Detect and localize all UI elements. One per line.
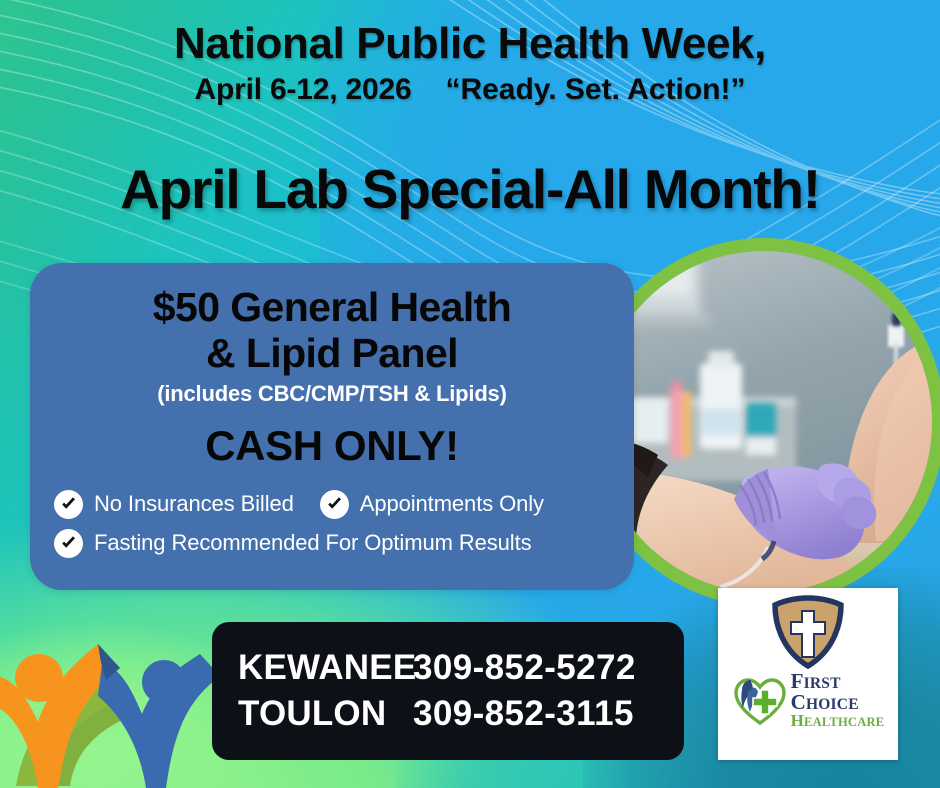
offer-card: $50 General Health & Lipid Panel (includ… (30, 263, 634, 590)
promo-headline: April Lab Special-All Month! (0, 162, 940, 217)
checklist-label: No Insurances Billed (94, 491, 294, 517)
event-tagline: “Ready. Set. Action!” (445, 73, 745, 106)
contact-row: TOULON 309-852-3115 (238, 691, 684, 737)
event-title: National Public Health Week, (0, 22, 940, 66)
check-circle-icon (54, 529, 83, 558)
people-figures-icon (0, 618, 224, 788)
brand-logo-card: FIRST CHOICE HEALTHCARE (718, 588, 898, 760)
photo-circle-frame (583, 238, 940, 606)
offer-title: $50 General Health & Lipid Panel (48, 285, 616, 377)
checklist-label: Appointments Only (360, 491, 544, 517)
brand-line-first: FIRST (791, 671, 885, 692)
contact-city: KEWANEE (238, 645, 413, 691)
check-circle-icon (320, 490, 349, 519)
contact-city: TOULON (238, 691, 413, 737)
checklist-item: Fasting Recommended For Optimum Results (54, 529, 531, 558)
event-dates: April 6-12, 2026 (195, 73, 412, 106)
checklist-row-1: No Insurances Billed Appointments Only (54, 490, 616, 519)
offer-checklist: No Insurances Billed Appointments Only (48, 490, 616, 558)
check-circle-icon (54, 490, 83, 519)
offer-title-line2: & Lipid Panel (48, 331, 616, 377)
event-subtitle: April 6-12, 2026“Ready. Set. Action!” (0, 75, 940, 105)
heart-person-cross-icon (732, 672, 788, 728)
brand-wordmark-block: FIRST CHOICE HEALTHCARE (727, 671, 890, 729)
contact-phone[interactable]: 309-852-3115 (413, 691, 634, 737)
checklist-label: Fasting Recommended For Optimum Results (94, 530, 531, 556)
header-block: National Public Health Week, April 6-12,… (0, 22, 940, 105)
checklist-item: No Insurances Billed (54, 490, 294, 519)
brand-line-choice: CHOICE (791, 692, 885, 713)
brand-text: FIRST CHOICE HEALTHCARE (791, 671, 885, 729)
contact-row: KEWANEE 309-852-5272 (238, 645, 684, 691)
contact-block: KEWANEE 309-852-5272 TOULON 309-852-3115 (212, 622, 684, 760)
brand-line-healthcare: HEALTHCARE (791, 713, 885, 729)
blood-draw-photo (596, 251, 932, 593)
contact-phone[interactable]: 309-852-5272 (413, 645, 636, 691)
checklist-item: Appointments Only (320, 490, 544, 519)
checklist-row-2: Fasting Recommended For Optimum Results (54, 529, 616, 558)
offer-title-line1: $50 General Health (48, 285, 616, 331)
flyer-poster: National Public Health Week, April 6-12,… (0, 0, 940, 788)
shield-cross-icon (771, 595, 845, 669)
offer-includes: (includes CBC/CMP/TSH & Lipids) (48, 381, 616, 407)
payment-notice: CASH ONLY! (48, 422, 616, 470)
